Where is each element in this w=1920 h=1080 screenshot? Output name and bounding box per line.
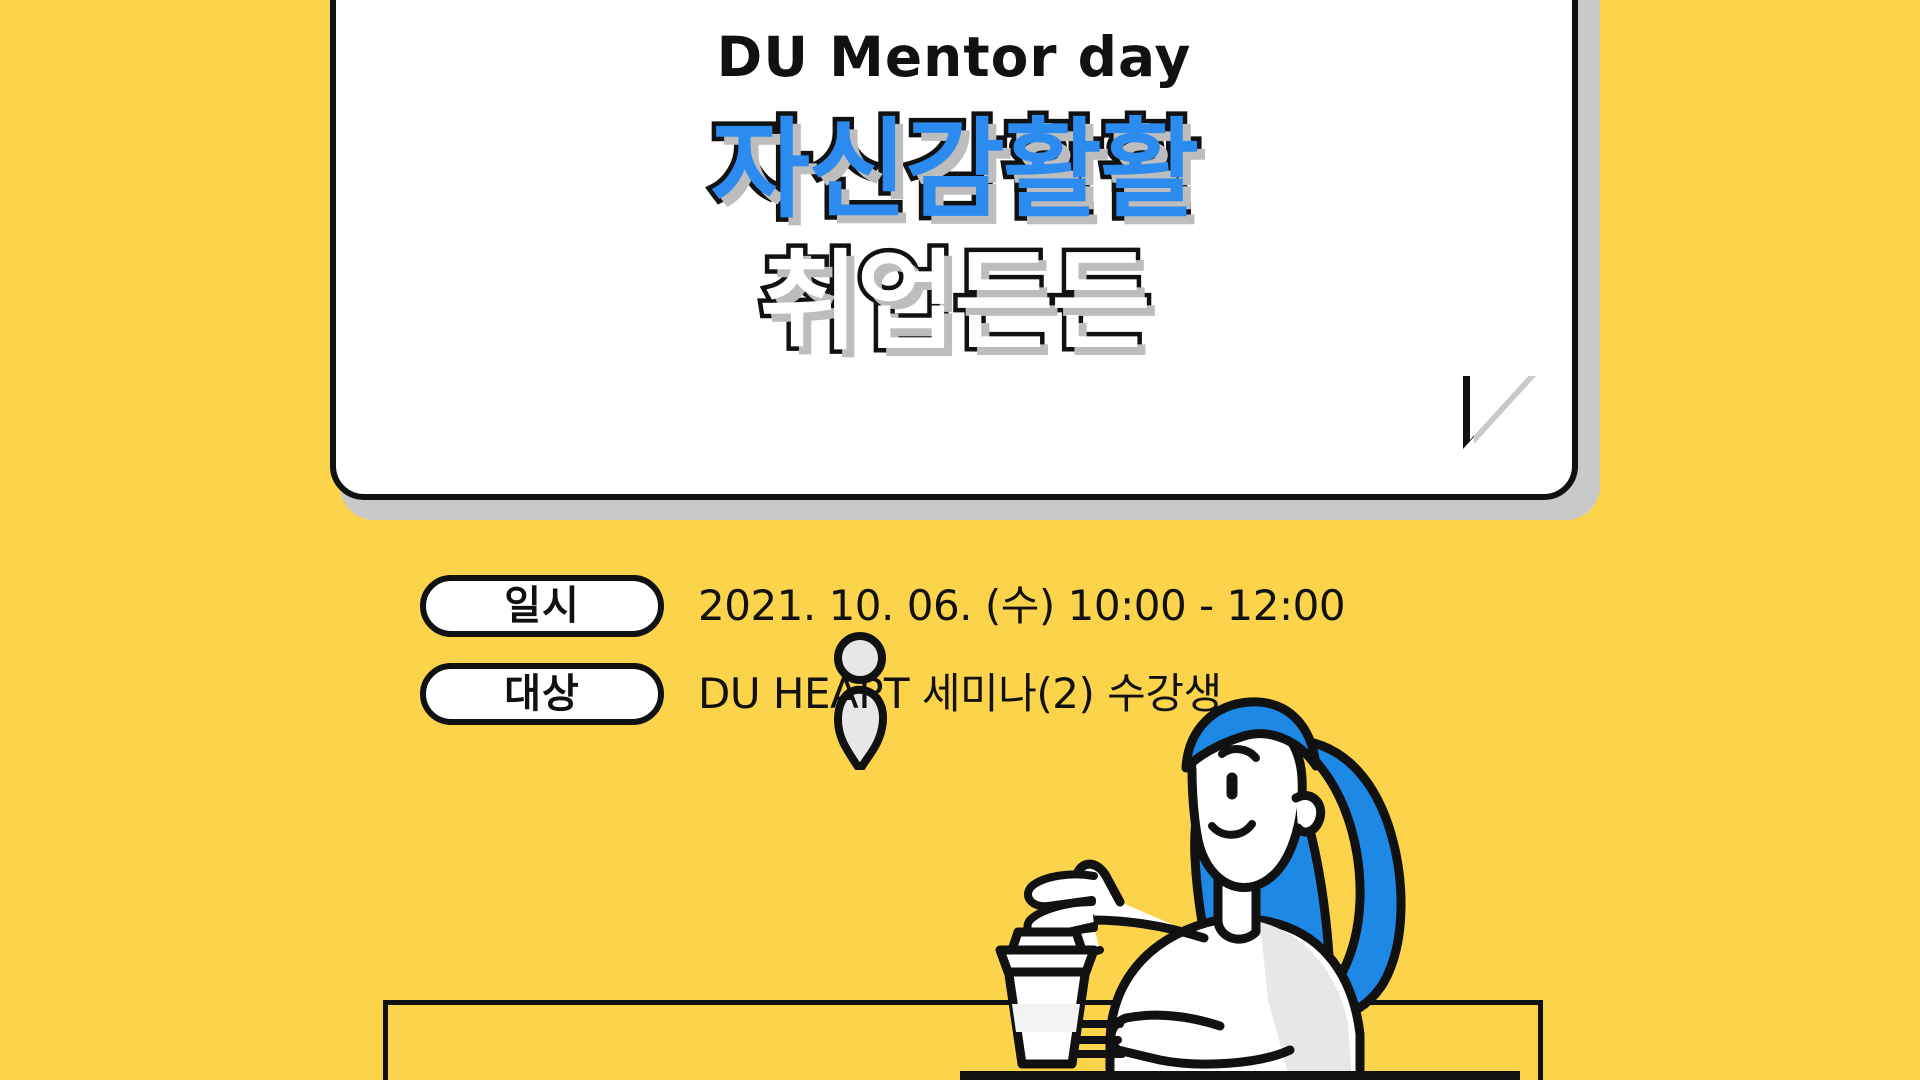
info-label-pill-date: 일시 <box>420 575 664 637</box>
speech-bubble: DU Mentor day 자신감활활 취업든든 <box>330 0 1600 520</box>
info-row: 일시 2021. 10. 06. (수) 10:00 - 12:00 <box>420 575 1345 637</box>
speech-bubble-content: DU Mentor day 자신감활활 취업든든 <box>330 0 1578 500</box>
headline: 자신감활활 취업든든 <box>711 105 1198 369</box>
right-background-band <box>1600 0 1920 1080</box>
info-value-audience: DU HEART 세미나(2) 수강생 <box>698 673 1222 715</box>
info-row: 대상 DU HEART 세미나(2) 수강생 <box>420 663 1345 725</box>
info-label-text: 대상 <box>504 674 580 714</box>
info-value-date: 2021. 10. 06. (수) 10:00 - 12:00 <box>698 585 1345 627</box>
poster-canvas: DU Mentor day 자신감활활 취업든든 일시 2021. 10. 06… <box>0 0 1920 1080</box>
info-label-text: 일시 <box>504 586 580 626</box>
left-background-band <box>0 0 330 1080</box>
eyebrow-title: DU Mentor day <box>717 30 1192 85</box>
headline-line-2: 취업든든 <box>711 237 1198 369</box>
info-list: 일시 2021. 10. 06. (수) 10:00 - 12:00 대상 DU… <box>420 575 1345 751</box>
info-label-pill-audience: 대상 <box>420 663 664 725</box>
headline-line-1: 자신감활활 <box>711 105 1198 237</box>
